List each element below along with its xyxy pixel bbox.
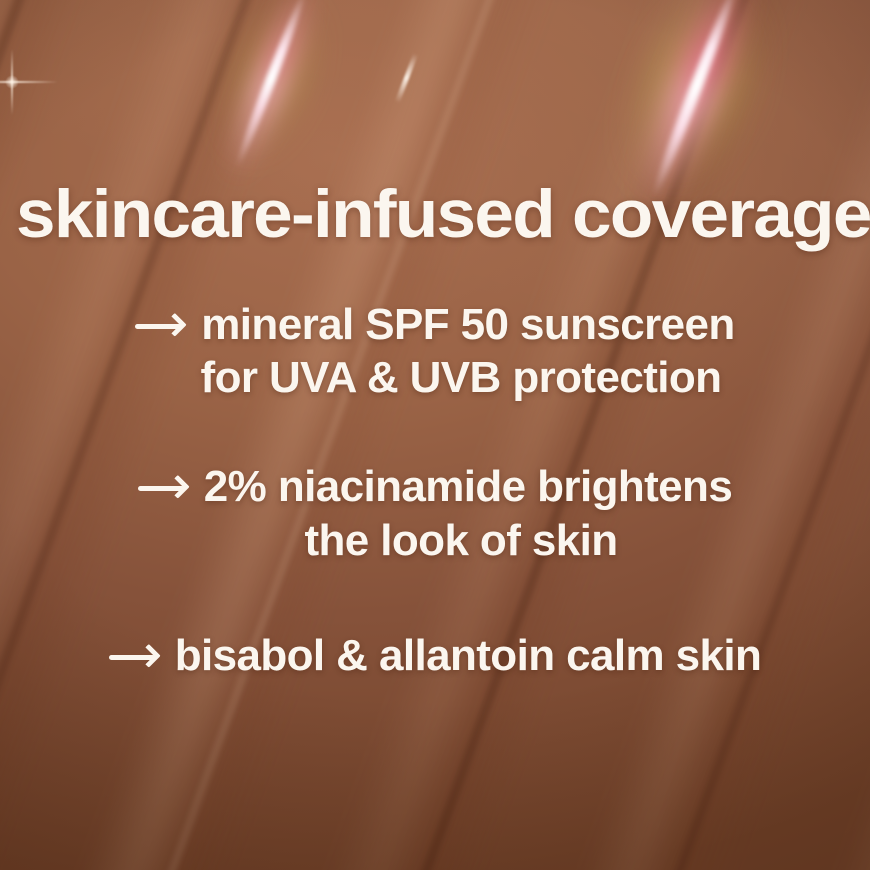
bullet-text: mineral SPF 50 sunscreen [201, 300, 734, 349]
bullet-line: for UVA & UVB protection [0, 351, 870, 404]
arrow-head [137, 643, 161, 667]
list-item: 2% niacinamide brightens the look of ski… [0, 460, 870, 566]
arrow-right-icon [138, 475, 190, 502]
arrow-right-icon [109, 644, 161, 671]
bullet-text: 2% niacinamide brightens [204, 462, 732, 511]
bullet-line: 2% niacinamide brightens [0, 460, 870, 513]
promo-image: skincare-infused coverage. mineral SPF 5… [0, 0, 870, 870]
bullet-text: bisabol & allantoin calm skin [175, 631, 762, 680]
content-layer: skincare-infused coverage. mineral SPF 5… [0, 0, 870, 870]
benefit-list: mineral SPF 50 sunscreen for UVA & UVB p… [0, 298, 870, 682]
bullet-line: bisabol & allantoin calm skin [0, 629, 870, 682]
page-title: skincare-infused coverage. [16, 180, 870, 248]
arrow-head [166, 475, 190, 499]
arrow-head [163, 313, 187, 337]
arrow-right-icon [135, 313, 187, 340]
list-item: mineral SPF 50 sunscreen for UVA & UVB p… [0, 298, 870, 404]
list-item: bisabol & allantoin calm skin [0, 629, 870, 682]
bullet-line: mineral SPF 50 sunscreen [0, 298, 870, 351]
bullet-line: the look of skin [0, 514, 870, 567]
